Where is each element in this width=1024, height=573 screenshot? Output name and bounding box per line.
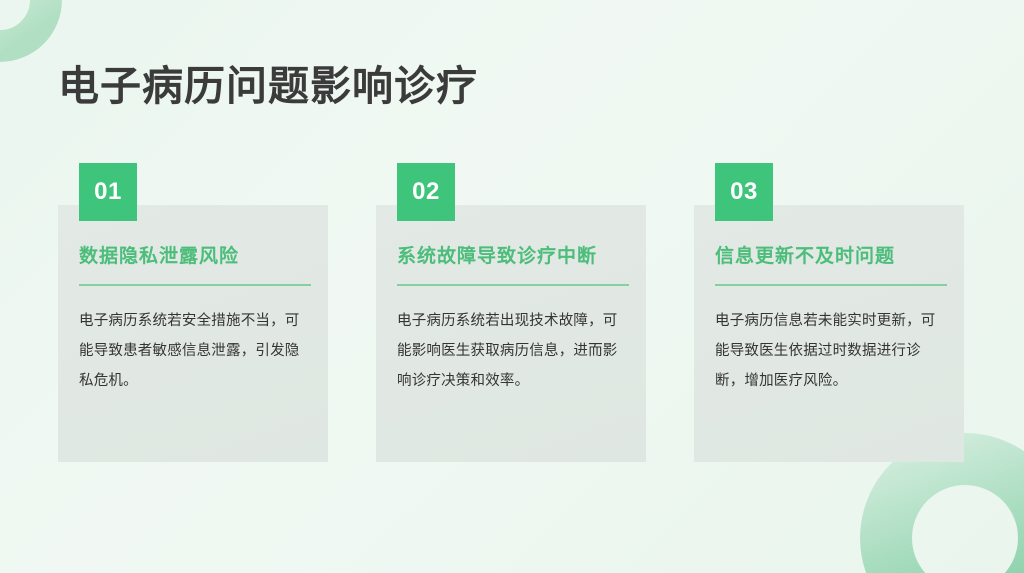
card-divider — [397, 284, 629, 286]
top-left-ring-decoration — [0, 0, 62, 62]
card-heading: 信息更新不及时问题 — [715, 245, 944, 270]
card-item: 02 系统故障导致诊疗中断 电子病历系统若出现技术故障，可能影响医生获取病历信息… — [376, 163, 646, 462]
card-heading: 数据隐私泄露风险 — [79, 245, 308, 270]
card-item: 03 信息更新不及时问题 电子病历信息若未能实时更新，可能导致医生依据过时数据进… — [694, 163, 964, 462]
card-body-text: 电子病历系统若出现技术故障，可能影响医生获取病历信息，进而影响诊疗决策和效率。 — [397, 306, 631, 396]
slide-canvas: 电子病历问题影响诊疗 01 数据隐私泄露风险 电子病历系统若安全措施不当，可能导… — [0, 0, 1024, 573]
card-number-badge: 01 — [79, 163, 137, 221]
card-heading: 系统故障导致诊疗中断 — [397, 245, 626, 270]
card-divider — [715, 284, 947, 286]
card-item: 01 数据隐私泄露风险 电子病历系统若安全措施不当，可能导致患者敏感信息泄露，引… — [58, 163, 328, 462]
page-title: 电子病历问题影响诊疗 — [58, 61, 478, 112]
card-panel: 信息更新不及时问题 电子病历信息若未能实时更新，可能导致医生依据过时数据进行诊断… — [694, 205, 964, 462]
card-body-text: 电子病历系统若安全措施不当，可能导致患者敏感信息泄露，引发隐私危机。 — [79, 306, 313, 396]
card-panel: 数据隐私泄露风险 电子病历系统若安全措施不当，可能导致患者敏感信息泄露，引发隐私… — [58, 205, 328, 462]
card-body-text: 电子病历信息若未能实时更新，可能导致医生依据过时数据进行诊断，增加医疗风险。 — [715, 306, 949, 396]
card-divider — [79, 284, 311, 286]
card-number-badge: 02 — [397, 163, 455, 221]
card-panel: 系统故障导致诊疗中断 电子病历系统若出现技术故障，可能影响医生获取病历信息，进而… — [376, 205, 646, 462]
cards-container: 01 数据隐私泄露风险 电子病历系统若安全措施不当，可能导致患者敏感信息泄露，引… — [58, 163, 964, 462]
card-number-badge: 03 — [715, 163, 773, 221]
